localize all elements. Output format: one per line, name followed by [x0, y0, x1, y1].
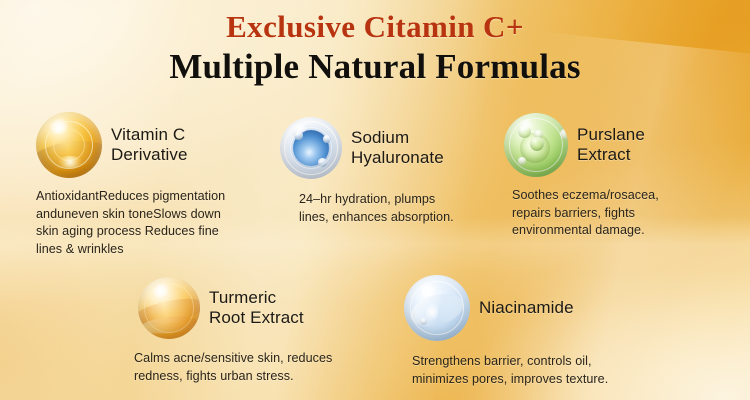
ice-blue-orb-icon	[404, 275, 470, 341]
ingredient-description: Soothes eczema/rosacea, repairs barriers…	[512, 187, 717, 240]
ingredient-title: Vitamin C Derivative	[111, 125, 188, 166]
ingredient-card-vitamin-c-derivative: Vitamin C Derivative AntioxidantReduces …	[36, 112, 276, 258]
orange-swirl-orb-icon	[138, 277, 200, 339]
ingredient-title: Sodium Hyaluronate	[351, 128, 444, 169]
ingredient-card-turmeric-root-extract: Turmeric Root Extract Calms acne/sensiti…	[138, 277, 353, 385]
card-header: Niacinamide	[404, 275, 634, 341]
gold-droplet-orb-icon	[36, 112, 102, 178]
ingredient-description: 24–hr hydration, plumps lines, enhances …	[299, 191, 489, 226]
card-header: Vitamin C Derivative	[36, 112, 276, 178]
poster-title-subtitle: Multiple Natural Formulas	[0, 46, 750, 88]
green-bubble-orb-icon	[504, 113, 568, 177]
ingredient-card-sodium-hyaluronate: Sodium Hyaluronate 24–hr hydration, plum…	[280, 117, 480, 226]
ingredient-description: Strengthens barrier, controls oil, minim…	[412, 353, 634, 388]
ingredient-description: AntioxidantReduces pigmentation anduneve…	[36, 188, 274, 258]
card-header: Sodium Hyaluronate	[280, 117, 480, 179]
ingredient-title: Purslane Extract	[577, 125, 645, 166]
card-header: Purslane Extract	[504, 113, 719, 177]
card-header: Turmeric Root Extract	[138, 277, 353, 339]
blue-capsule-orb-icon	[280, 117, 342, 179]
skincare-ingredient-poster: Exclusive Citamin C+ Multiple Natural Fo…	[0, 0, 750, 400]
ingredient-title: Niacinamide	[479, 298, 574, 319]
ingredient-card-purslane-extract: Purslane Extract Soothes eczema/rosacea,…	[504, 113, 719, 240]
poster-heading-group: Exclusive Citamin C+ Multiple Natural Fo…	[0, 8, 750, 88]
ingredient-card-niacinamide: Niacinamide Strengthens barrier, control…	[404, 275, 634, 388]
ingredient-title: Turmeric Root Extract	[209, 288, 304, 329]
poster-title-main: Exclusive Citamin C+	[0, 8, 750, 46]
ingredient-description: Calms acne/sensitive skin, reduces redne…	[134, 350, 359, 385]
